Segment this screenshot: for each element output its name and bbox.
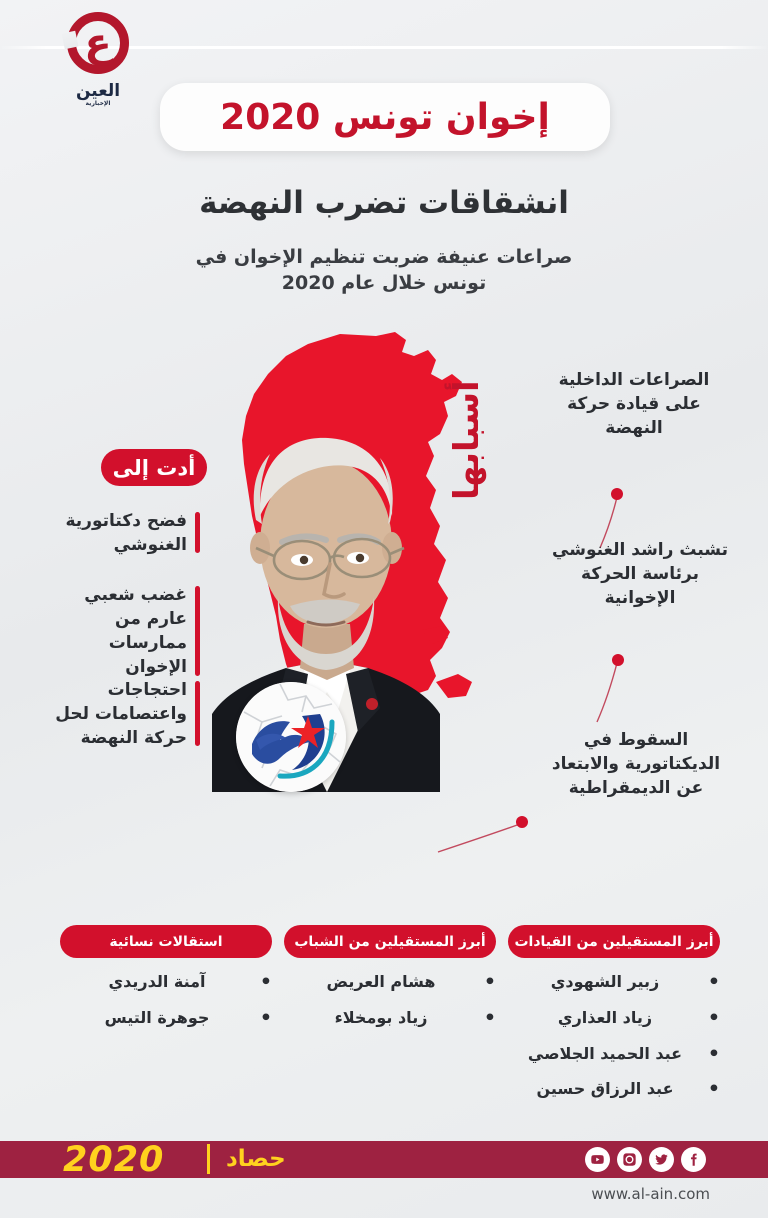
list-item: عبد الرزاق حسين [508,1079,720,1100]
al-ain-logo[interactable]: ع العين الإخبارية [42,12,154,112]
cause-item-2: تشبث راشد الغنوشي برئاسة الحركة الإخواني… [552,538,728,610]
result-item-3: احتجاجات واعتصامات لحل حركة النهضة [48,678,200,750]
social-links [585,1147,706,1172]
youtube-icon[interactable] [585,1147,610,1172]
list-item: زياد بومخلاء [284,1008,496,1029]
al-ain-ayn-logo-icon: ع [63,12,133,80]
footer-label: حصاد [226,1146,286,1172]
column-list: زبير الشهودي زياد العذاري عبد الحميد الج… [508,972,720,1100]
footer-divider [207,1144,210,1174]
logo-brand-tagline: الإخبارية [86,100,111,107]
column-title: استقالات نسائية [60,925,272,958]
resignations-column-women: استقالات نسائية آمنة الدريدي جوهرة التيس [60,925,272,1044]
infographic-page: ع العين الإخبارية إخوان تونس 2020 انشقاق… [0,0,768,1218]
resignations-column-youth: أبرز المستقيلين من الشباب هشام العريض زي… [284,925,496,1044]
footer-year: 2020 [63,1140,164,1180]
result-item-1: فضح دكتاتورية الغنوشي [48,509,200,557]
causes-section-label: أسبابها [447,380,487,500]
page-title: إخوان تونس 2020 [220,97,550,138]
footer-website-url[interactable]: www.al-ain.com [591,1185,710,1203]
resignations-column-leaders: أبرز المستقيلين من القيادات زبير الشهودي… [508,925,720,1115]
list-item: جوهرة التيس [60,1008,272,1029]
twitter-icon[interactable] [649,1147,674,1172]
logo-brand-name: العين [76,81,120,101]
cause-item-1: الصراعات الداخلية على قيادة حركة النهضة [546,368,722,440]
title-pill: إخوان تونس 2020 [160,83,610,151]
column-title: أبرز المستقيلين من الشباب [284,925,496,958]
column-list: آمنة الدريدي جوهرة التيس [60,972,272,1029]
list-item: زبير الشهودي [508,972,720,993]
subheadline: صراعات عنيفة ضربت تنظيم الإخوان في تونس … [184,244,584,296]
list-item: زياد العذاري [508,1008,720,1029]
result-item-2: غضب شعبي عارم من ممارسات الإخوان [48,583,200,680]
list-item: آمنة الدريدي [60,972,272,993]
list-item: هشام العريض [284,972,496,993]
column-list: هشام العريض زياد بومخلاء [284,972,496,1029]
list-item: عبد الحميد الجلاصي [508,1044,720,1065]
cause-item-3: السقوط في الديكتاتورية والابتعاد عن الدي… [548,728,724,800]
results-section-badge: أدت إلى [101,449,207,486]
connector-dot-1 [611,488,623,500]
ennahda-party-emblem [236,682,346,792]
headline: انشقاقات تضرب النهضة [0,185,768,221]
instagram-icon[interactable] [617,1147,642,1172]
facebook-icon[interactable] [681,1147,706,1172]
column-title: أبرز المستقيلين من القيادات [508,925,720,958]
logo-notch-shape [61,31,78,50]
logo-letter: ع [84,24,112,64]
connector-dot-2 [612,654,624,666]
